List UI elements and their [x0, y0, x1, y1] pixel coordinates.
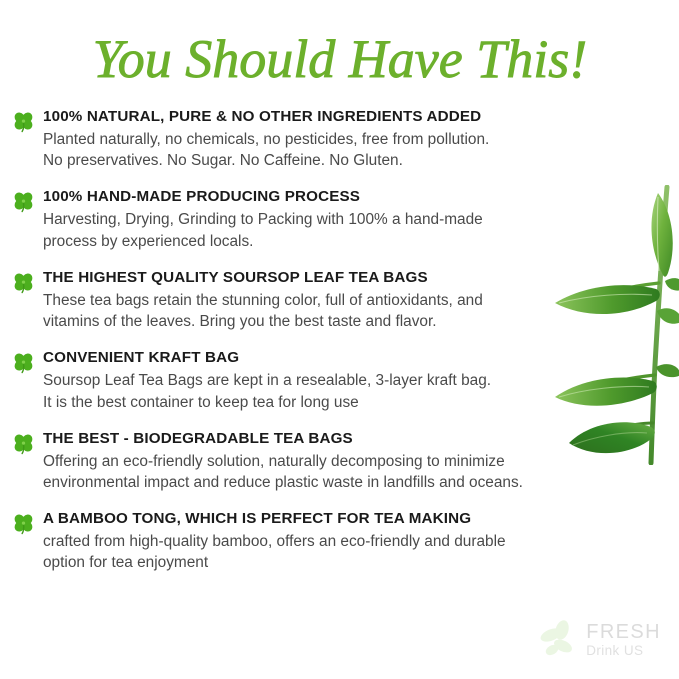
four-leaf-clover-icon: [12, 351, 35, 374]
list-item-description: crafted from high-quality bamboo, offers…: [43, 531, 672, 574]
description-line: It is the best container to keep tea for…: [43, 392, 643, 413]
list-item: CONVENIENT KRAFT BAG Soursop Leaf Tea Ba…: [12, 349, 672, 412]
list-item-heading: THE BEST - BIODEGRADABLE TEA BAGS: [43, 430, 672, 448]
description-line: Soursop Leaf Tea Bags are kept in a rese…: [43, 370, 643, 391]
brand-logo-text: FRESH Drink US: [586, 622, 661, 658]
list-item: 100% NATURAL, PURE & NO OTHER INGREDIENT…: [12, 108, 672, 171]
description-line: Planted naturally, no chemicals, no pest…: [43, 129, 643, 150]
list-item: THE BEST - BIODEGRADABLE TEA BAGS Offeri…: [12, 430, 672, 493]
description-line: option for tea enjoyment: [43, 552, 672, 573]
description-line: crafted from high-quality bamboo, offers…: [43, 531, 672, 552]
list-item-heading: 100% NATURAL, PURE & NO OTHER INGREDIENT…: [43, 108, 672, 126]
description-line: process by experienced locals.: [43, 231, 643, 252]
list-item-heading: CONVENIENT KRAFT BAG: [43, 349, 672, 367]
four-leaf-clover-icon: [12, 432, 35, 455]
list-item: A BAMBOO TONG, WHICH IS PERFECT FOR TEA …: [12, 510, 672, 573]
brand-name: FRESH: [586, 622, 661, 642]
list-item-content: 100% HAND-MADE PRODUCING PROCESS Harvest…: [43, 188, 672, 251]
list-item-description: Offering an eco-friendly solution, natur…: [43, 451, 672, 494]
description-line: These tea bags retain the stunning color…: [43, 290, 643, 311]
description-line: environmental impact and reduce plastic …: [43, 472, 672, 493]
product-feature-card: You Should Have This! 100% NATU: [0, 0, 679, 679]
description-line: No preservatives. No Sugar. No Caffeine.…: [43, 150, 643, 171]
list-item-content: THE HIGHEST QUALITY SOURSOP LEAF TEA BAG…: [43, 269, 672, 332]
four-leaf-clover-icon: [12, 271, 35, 294]
description-line: vitamins of the leaves. Bring you the be…: [43, 311, 643, 332]
page-title-script: You Should Have This!: [60, 17, 620, 101]
list-item-description: These tea bags retain the stunning color…: [43, 290, 643, 333]
page-title-text: You Should Have This!: [92, 29, 587, 89]
four-leaf-clover-icon: [12, 512, 35, 535]
list-item-description: Planted naturally, no chemicals, no pest…: [43, 129, 643, 172]
four-leaf-clover-icon: [12, 110, 35, 133]
list-item-description: Harvesting, Drying, Grinding to Packing …: [43, 209, 643, 252]
list-item-content: 100% NATURAL, PURE & NO OTHER INGREDIENT…: [43, 108, 672, 171]
four-leaf-clover-icon: [12, 190, 35, 213]
description-line: Offering an eco-friendly solution, natur…: [43, 451, 672, 472]
brand-tagline: Drink US: [586, 644, 661, 658]
list-item-content: THE BEST - BIODEGRADABLE TEA BAGS Offeri…: [43, 430, 672, 493]
list-item-content: A BAMBOO TONG, WHICH IS PERFECT FOR TEA …: [43, 510, 672, 573]
feature-list: 100% NATURAL, PURE & NO OTHER INGREDIENT…: [12, 108, 672, 591]
list-item-heading: THE HIGHEST QUALITY SOURSOP LEAF TEA BAG…: [43, 269, 672, 287]
description-line: Harvesting, Drying, Grinding to Packing …: [43, 209, 643, 230]
list-item-heading: 100% HAND-MADE PRODUCING PROCESS: [43, 188, 672, 206]
brand-logo: FRESH Drink US: [538, 619, 661, 661]
list-item-description: Soursop Leaf Tea Bags are kept in a rese…: [43, 370, 643, 413]
list-item-content: CONVENIENT KRAFT BAG Soursop Leaf Tea Ba…: [43, 349, 672, 412]
page-title: You Should Have This!: [0, 16, 679, 102]
list-item: 100% HAND-MADE PRODUCING PROCESS Harvest…: [12, 188, 672, 251]
leaf-trio-icon: [538, 619, 580, 661]
list-item-heading: A BAMBOO TONG, WHICH IS PERFECT FOR TEA …: [43, 510, 672, 528]
list-item: THE HIGHEST QUALITY SOURSOP LEAF TEA BAG…: [12, 269, 672, 332]
